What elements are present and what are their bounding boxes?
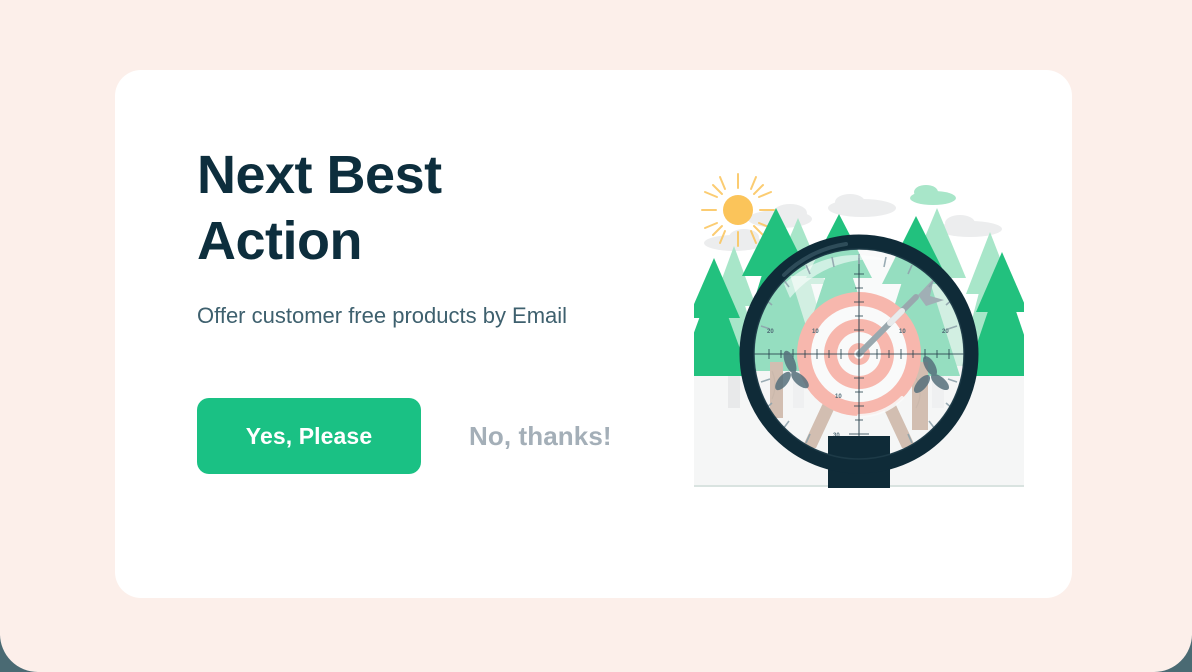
svg-text:20: 20: [942, 329, 949, 335]
no-thanks-button[interactable]: No, thanks!: [469, 421, 612, 452]
scope-lens: 20 10 10 20 10 30: [754, 249, 964, 459]
cloud-icon: [910, 185, 956, 205]
svg-text:10: 10: [899, 329, 906, 335]
card-copy-column: Next Best Action Offer customer free pro…: [197, 142, 627, 332]
svg-text:10: 10: [835, 394, 842, 400]
page-surface: Next Best Action Offer customer free pro…: [0, 0, 1192, 672]
next-best-action-card: Next Best Action Offer customer free pro…: [115, 70, 1072, 598]
target-scope-illustration: 20 10 10 20 10 30: [694, 166, 1024, 511]
yes-please-button[interactable]: Yes, Please: [197, 398, 421, 474]
page-title: Next Best Action: [197, 142, 627, 275]
svg-text:20: 20: [767, 329, 774, 335]
svg-text:10: 10: [812, 329, 819, 335]
card-actions: Yes, Please No, thanks!: [197, 398, 612, 474]
card-subheading: Offer customer free products by Email: [197, 299, 597, 332]
